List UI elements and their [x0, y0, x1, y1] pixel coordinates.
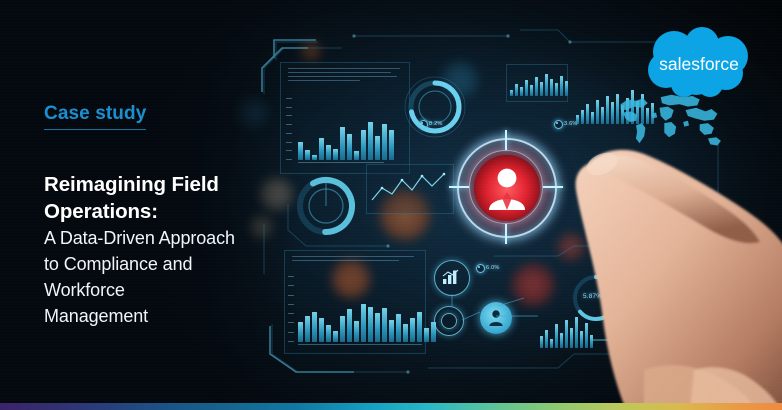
eyebrow-label: Case study: [44, 104, 146, 130]
crosshair-top: [505, 130, 507, 150]
metric-dot-1: [419, 120, 428, 129]
bar-chart-top-left: [298, 98, 394, 160]
banner-copy: Case study Reimagining Field Operations:…: [44, 104, 294, 328]
hud-text-lines-top-left: [288, 68, 400, 84]
line-chart-center: [368, 166, 450, 210]
salesforce-cloud-icon[interactable]: salesforce: [638, 26, 760, 100]
title-bold: Reimagining Field Operations:: [44, 172, 294, 225]
metric-label-1: 8.2%: [429, 121, 443, 127]
metric-label-2: 3.6%: [564, 121, 578, 127]
bar-chart-bottom-right: [540, 314, 593, 348]
hud-text-lines-bottom-left: [292, 256, 414, 264]
person-glyph: [487, 166, 527, 210]
metric-dot-2: [554, 120, 563, 129]
donut-bottom-left: [292, 172, 360, 240]
salesforce-wordmark: salesforce: [659, 54, 739, 74]
spark-chart-mid-right: [510, 70, 568, 96]
title-line-4: Management: [44, 304, 294, 329]
title-line-1: A Data-Driven Approach: [44, 226, 294, 251]
title-line-3: Workforce: [44, 278, 294, 303]
donut-top-center: [404, 76, 466, 138]
axis-baseline-top-left: [298, 162, 384, 163]
metric-label-4: 5.87%: [583, 293, 602, 300]
crosshair-bottom: [505, 224, 507, 244]
crosshair-left: [449, 186, 469, 188]
bar-chart-bottom-left: [298, 276, 436, 342]
axis-baseline-bottom-left: [298, 344, 422, 345]
crosshair-right: [543, 186, 563, 188]
person-target-icon: [453, 134, 561, 242]
title-line-2: to Compliance and: [44, 252, 294, 277]
page-title: Reimagining Field Operations: A Data-Dri…: [44, 172, 294, 329]
hud-text-lines-right: [638, 282, 704, 306]
case-study-banner: 8.2% 3.6%: [0, 0, 782, 410]
readout-dot-2: [634, 316, 639, 321]
readout-dot-1: [634, 294, 639, 299]
footer-accent-bar: [0, 403, 782, 410]
